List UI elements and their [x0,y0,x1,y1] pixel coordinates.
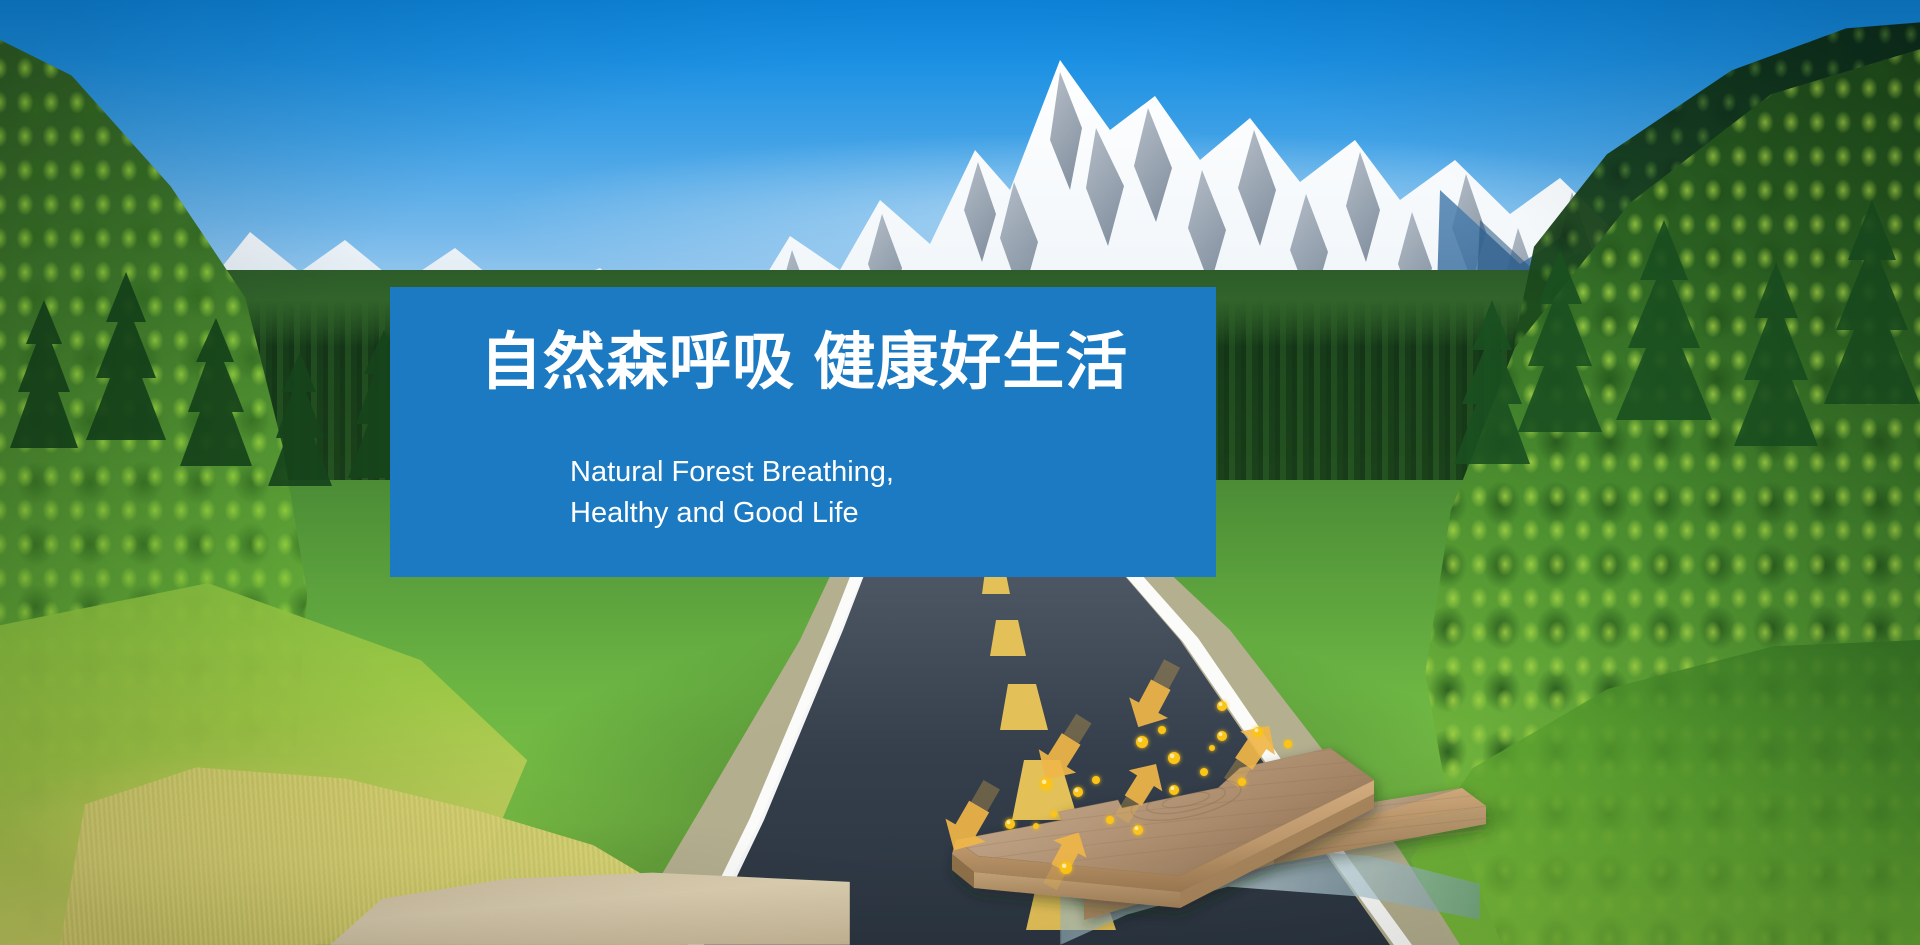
airflow-particle-highlight [1219,702,1223,706]
airflow-particle-highlight [1062,864,1067,869]
headline-english: Natural Forest Breathing, Healthy and Go… [570,452,894,534]
airflow-particle [1169,785,1179,795]
hero-banner: 自然森呼吸 健康好生活 Natural Forest Breathing, He… [0,0,1920,945]
airflow-particle [1060,862,1072,874]
airflow-particle [1200,768,1208,776]
airflow-particle [1217,731,1227,741]
airflow-particle [1209,745,1215,751]
airflow-particle [1092,776,1100,784]
airflow-particle [1033,823,1039,829]
airflow-particle-highlight [1075,788,1079,792]
airflow-particle [1040,778,1052,790]
airflow-particle-highlight [1255,728,1259,732]
airflow-particle [1073,787,1083,797]
airflow-particle [1005,819,1015,829]
airflow-particle-highlight [1042,780,1047,785]
airflow-particle-highlight [1135,826,1139,830]
airflow-particle [1168,752,1180,764]
headline-chinese: 自然森呼吸 健康好生活 [480,330,1128,397]
wood-flooring-graphic [950,672,1490,945]
airflow-particle [1051,811,1057,817]
airflow-particle [1253,727,1263,737]
airflow-particle [1284,740,1292,748]
headline-overlay-box: 自然森呼吸 健康好生活 Natural Forest Breathing, He… [390,287,1216,577]
airflow-particle [1217,701,1227,711]
airflow-particle-highlight [1219,732,1223,736]
airflow-particle [1106,816,1114,824]
airflow-particle [1158,726,1166,734]
airflow-particle-highlight [1170,754,1175,759]
airflow-particle-highlight [1138,738,1143,743]
airflow-particle [1238,778,1246,786]
airflow-particle-highlight [1007,820,1011,824]
airflow-particle [1133,825,1143,835]
airflow-particle-highlight [1171,786,1175,790]
airflow-particle [1136,736,1148,748]
